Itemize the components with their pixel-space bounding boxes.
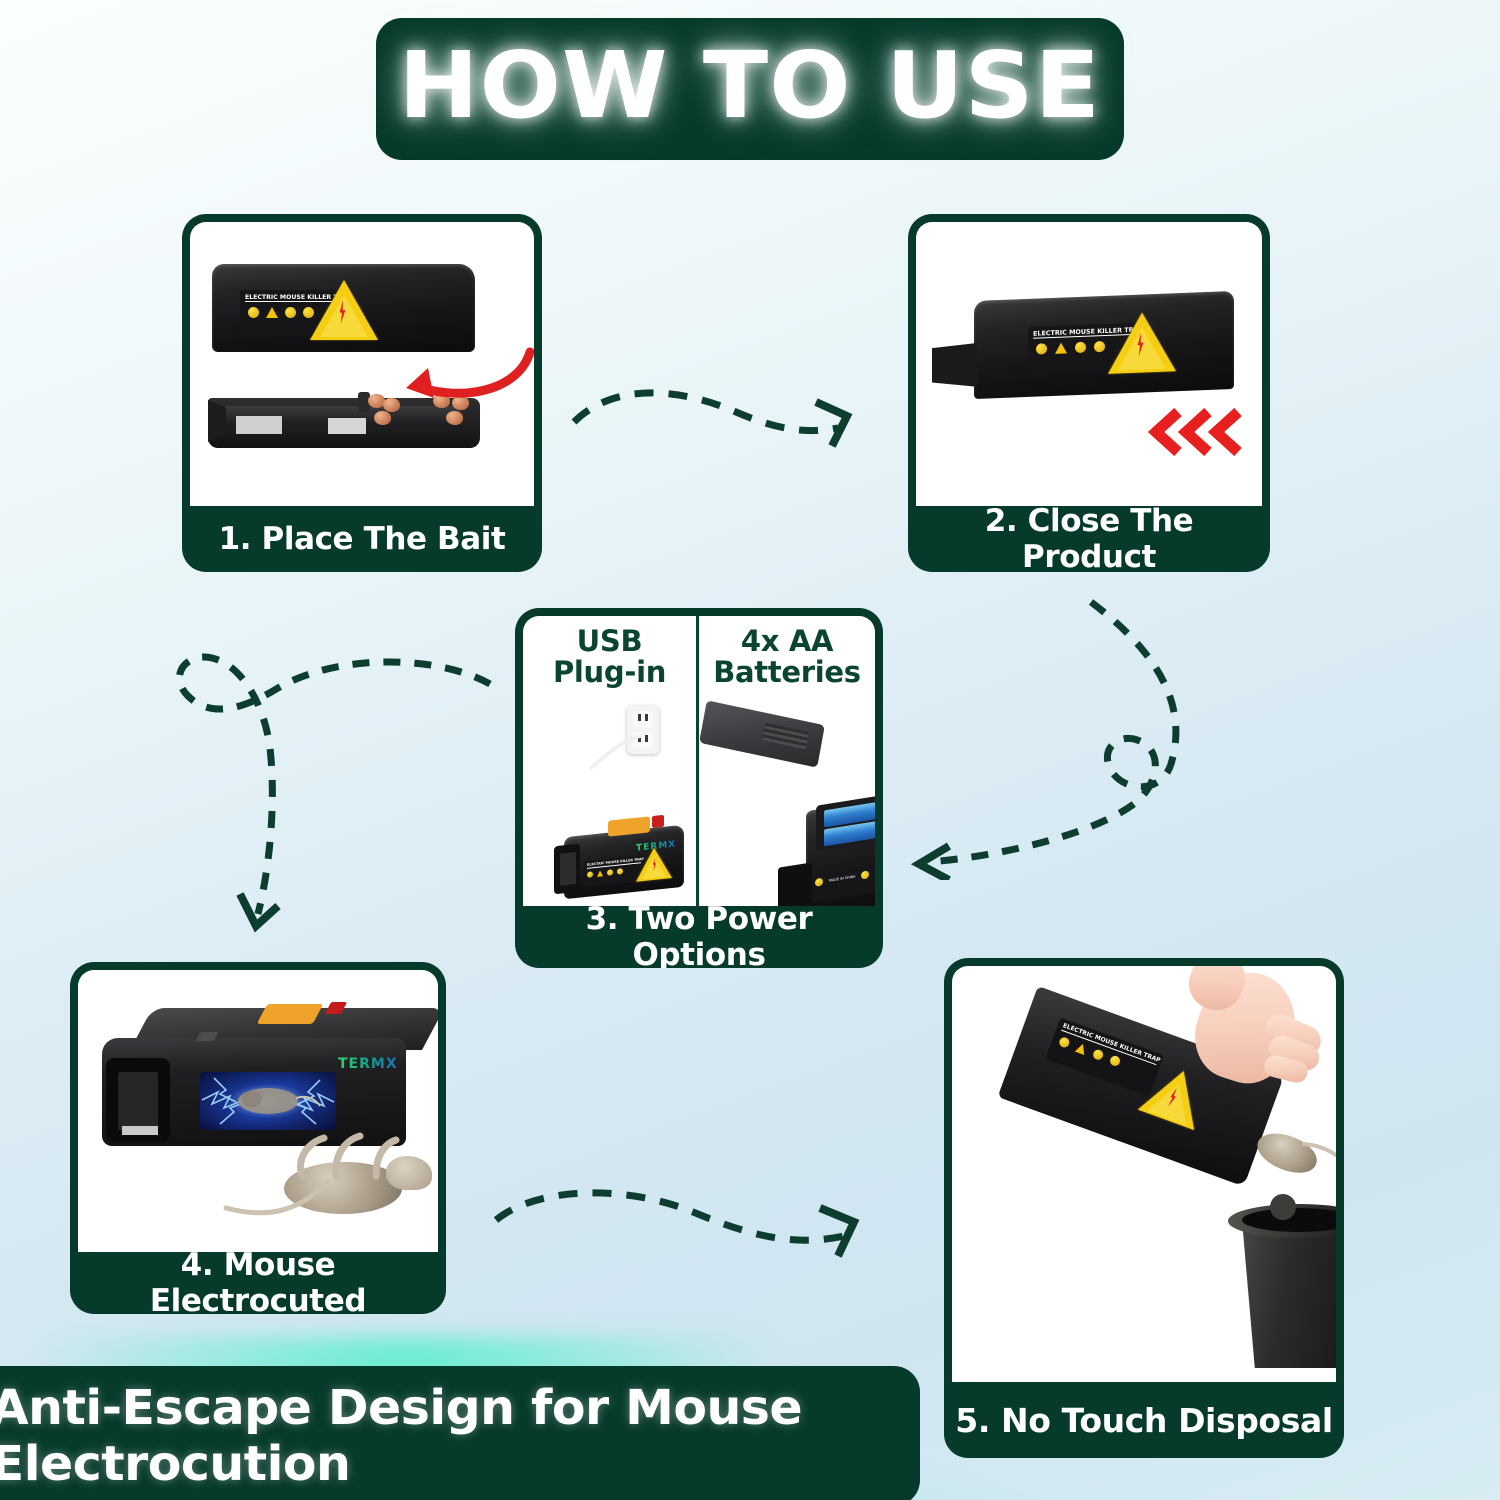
speaker-icon (248, 307, 259, 318)
trap-closed: ELECTRIC MOUSE KILLER TRAP (974, 291, 1234, 399)
hand (1180, 966, 1330, 1112)
step-card-4: TERMX (70, 962, 446, 1314)
brand-logo: TERMX (338, 1056, 398, 1072)
bottom-banner: Anti-Escape Design for Mouse Electrocuti… (0, 1366, 920, 1500)
step-card-1: ELECTRIC MOUSE KILLER TRAP (182, 214, 542, 572)
usb-option-title-line2: Plug-in (553, 657, 666, 688)
step-card-2: ELECTRIC MOUSE KILLER TRAP (908, 214, 1270, 572)
connector-step-3-to-4 (160, 626, 500, 946)
step-2-image: ELECTRIC MOUSE KILLER TRAP (916, 222, 1262, 506)
connector-step-2-to-3 (895, 580, 1215, 880)
lightning-arcs-icon (200, 1072, 336, 1130)
hazard-triangle-inner (320, 295, 368, 337)
electrocution-screen (200, 1072, 336, 1130)
step-3-label: 3. Two Power Options (523, 906, 875, 968)
power-option-batteries: 4x AA Batteries MADE IN CHINA (699, 616, 875, 906)
no-water-icon (1075, 342, 1086, 353)
bait-pellet (383, 398, 400, 412)
close-direction-chevrons-icon (1144, 408, 1254, 456)
bait-pellet (452, 396, 469, 410)
trap-usb-powered: TERMX ELECTRIC MOUSE KILLER TRAP (564, 824, 684, 899)
usb-option-title-line1: USB (577, 626, 643, 657)
step-3-image: USB Plug-in TERMX (523, 616, 875, 906)
no-water-icon (285, 307, 296, 318)
bait-pellet (374, 411, 391, 425)
power-switch (608, 816, 650, 836)
falling-mouse (1252, 1128, 1336, 1198)
step-card-3: USB Plug-in TERMX (515, 608, 883, 968)
hazard-triangle-inner (1118, 327, 1166, 371)
no-pets-icon (1094, 341, 1105, 352)
battery-cover (699, 700, 825, 767)
step-1-image: ELECTRIC MOUSE KILLER TRAP (190, 222, 534, 506)
infographic-page: HOW TO USE ELECTRIC MOUSE KILLER TRAP (0, 0, 1500, 1500)
step-card-5: ELECTRIC MOUSE KILLER TRAP (944, 958, 1344, 1458)
step-1-label: 1. Place The Bait (190, 506, 534, 572)
wall-outlet-icon (627, 706, 659, 754)
trap-lid: ELECTRIC MOUSE KILLER TRAP (212, 264, 475, 352)
battery-option-title-line2: Batteries (713, 657, 861, 688)
indicator-light (652, 814, 664, 827)
disposal-bin (1224, 1190, 1336, 1370)
warning-triangle-icon (266, 307, 278, 318)
bait-pellet (433, 394, 450, 408)
warning-triangle-icon (1055, 343, 1067, 354)
trap-battery-compartment: MADE IN CHINA (806, 790, 875, 906)
battery-option-title-line1: 4x AA (741, 626, 833, 657)
tagline: Anti-Escape Design for Mouse Electrocuti… (0, 1380, 929, 1492)
step-4-label: 4. Mouse Electrocuted (78, 1252, 438, 1314)
page-title: HOW TO USE (399, 40, 1102, 138)
speaker-icon (1036, 344, 1047, 355)
dead-mouse (228, 1138, 438, 1222)
connector-step-4-to-5 (488, 1174, 878, 1274)
power-option-usb: USB Plug-in TERMX (523, 616, 699, 906)
trap-electrocuting: TERMX (102, 1000, 422, 1160)
step-5-image: ELECTRIC MOUSE KILLER TRAP (952, 966, 1336, 1382)
step-2-label: 2. Close The Product (916, 506, 1262, 572)
bait-pellet (446, 411, 463, 425)
step-4-image: TERMX (78, 970, 438, 1252)
step-5-label: 5. No Touch Disposal (952, 1382, 1336, 1458)
connector-step-1-to-2 (566, 372, 866, 452)
header-banner: HOW TO USE (376, 18, 1124, 160)
power-switch (257, 1004, 324, 1024)
